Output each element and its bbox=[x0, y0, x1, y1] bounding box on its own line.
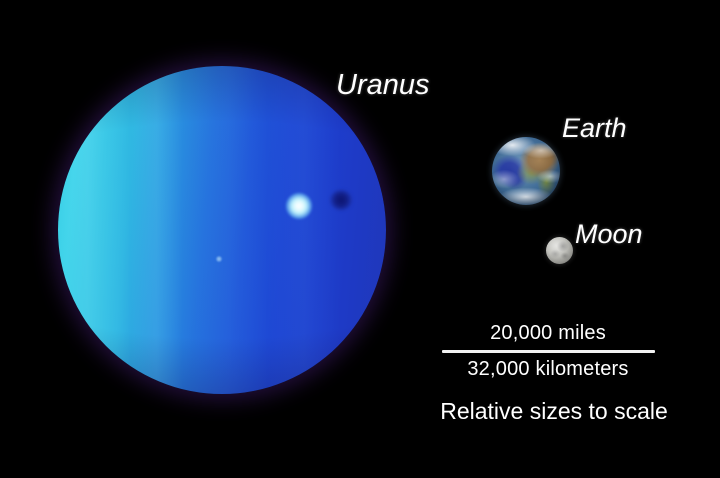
earth-disc bbox=[492, 137, 560, 205]
uranus-faint-speck bbox=[216, 256, 222, 262]
moon-disc bbox=[546, 237, 573, 264]
uranus-pole-shading bbox=[58, 66, 386, 394]
caption-relative-sizes: Relative sizes to scale bbox=[414, 398, 694, 425]
scale-bar-kilometers-label: 32,000 kilometers bbox=[426, 356, 670, 382]
uranus-planet bbox=[58, 66, 386, 394]
scale-bar-miles-label: 20,000 miles bbox=[426, 320, 670, 346]
uranus-bright-storm-spot bbox=[286, 193, 312, 219]
scale-bar: 20,000 miles 32,000 kilometers bbox=[426, 320, 670, 382]
label-moon: Moon bbox=[575, 219, 643, 250]
uranus-dark-shadow-spot bbox=[330, 190, 352, 210]
scale-bar-line bbox=[442, 350, 655, 353]
label-earth: Earth bbox=[562, 113, 627, 144]
label-uranus: Uranus bbox=[336, 69, 430, 102]
image-canvas: Uranus Earth Moon 20,000 miles 32,000 ki… bbox=[0, 0, 720, 478]
earth-planet bbox=[492, 137, 560, 205]
moon-body bbox=[546, 237, 573, 264]
